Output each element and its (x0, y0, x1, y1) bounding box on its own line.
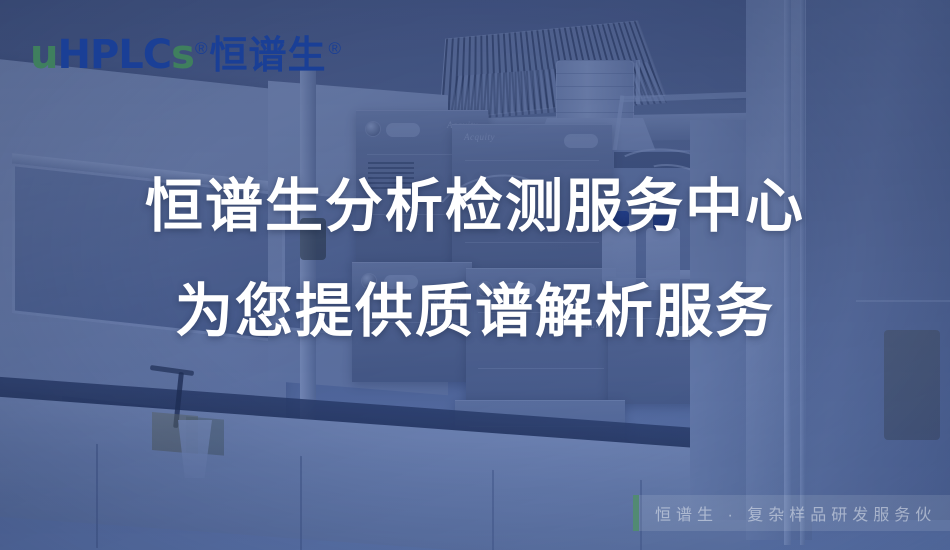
tagline-text: 恒谱生 · 复杂样品研发服务伙 (655, 501, 936, 525)
brand-logo[interactable]: u HPLC s ® 恒谱生 ® (30, 24, 341, 79)
headline-line-2: 为您提供质谱解析服务 (0, 281, 950, 342)
headline-line-1: 恒谱生分析检测服务中心 (0, 176, 950, 237)
tagline-accent-bar (633, 495, 639, 531)
registered-mark-icon: ® (195, 39, 208, 59)
tagline-strip: 恒谱生 · 复杂样品研发服务伙 (633, 495, 950, 531)
logo-letter-u: u (30, 32, 57, 78)
registered-mark-icon-secondary: ® (328, 39, 341, 59)
logo-letters-hplc: HPLC (57, 32, 171, 78)
headline-block: 恒谱生分析检测服务中心 为您提供质谱解析服务 (0, 176, 950, 343)
logo-chinese-name: 恒谱生 (209, 24, 326, 79)
promo-banner: Acquity Acquity Acquity Acquity (0, 0, 950, 550)
logo-letter-s: s (171, 32, 194, 78)
